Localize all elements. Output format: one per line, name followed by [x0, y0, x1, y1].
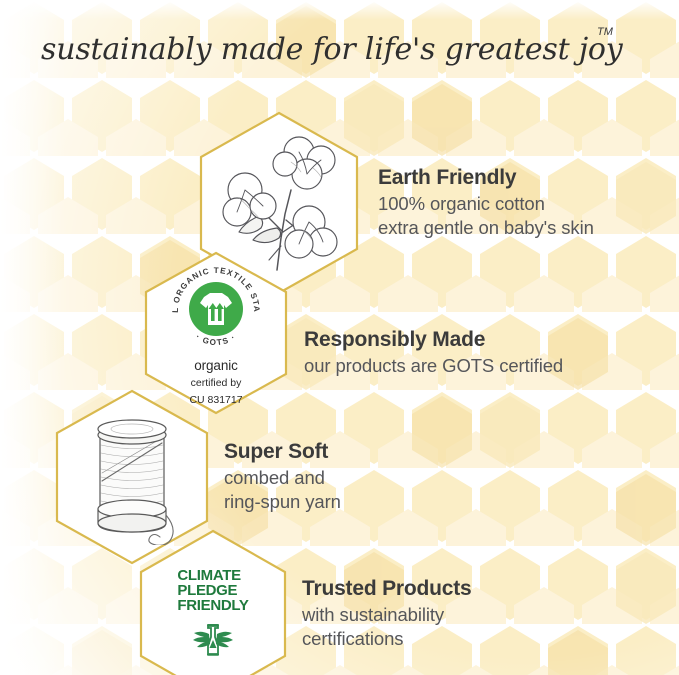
feature-line: certifications — [302, 627, 472, 651]
climate-pledge-friendly-icon: CLIMATE PLEDGE FRIENDLY — [177, 568, 248, 660]
cpf-line-pledge: PLEDGE — [177, 583, 248, 598]
cpf-wordmark: CLIMATE PLEDGE FRIENDLY — [177, 568, 248, 613]
feature-trusted-products-text: Trusted Products with sustainability cer… — [302, 576, 472, 652]
headline-text: sustainably made for life's greatest joy — [41, 32, 624, 67]
feature-title: Earth Friendly — [378, 165, 594, 192]
feature-title: Super Soft — [224, 439, 341, 466]
gots-caption-organic: organic — [194, 358, 238, 373]
hex-badge-climate-pledge: CLIMATE PLEDGE FRIENDLY — [136, 528, 290, 675]
feature-super-soft-text: Super Soft combed and ring-spun yarn — [224, 439, 341, 515]
winged-hourglass-icon — [192, 620, 234, 660]
promo-graphic: sustainably made for life's greatest joy… — [0, 0, 679, 675]
feature-trusted-products: CLIMATE PLEDGE FRIENDLY — [136, 528, 472, 675]
feature-line: 100% organic cotton — [378, 192, 594, 216]
feature-responsibly-made-text: Responsibly Made our products are GOTS c… — [304, 327, 563, 378]
feature-title: Responsibly Made — [304, 327, 563, 354]
cpf-line-climate: CLIMATE — [177, 568, 248, 583]
feature-line: ring-spun yarn — [224, 490, 341, 514]
feature-line: combed and — [224, 466, 341, 490]
feature-line: our products are GOTS certified — [304, 354, 563, 378]
trademark-symbol: TM — [597, 26, 614, 38]
feature-line: with sustainability — [302, 603, 472, 627]
cpf-line-friendly: FRIENDLY — [177, 598, 248, 613]
feature-title: Trusted Products — [302, 576, 472, 603]
feature-earth-friendly-text: Earth Friendly 100% organic cotton extra… — [378, 165, 594, 241]
headline: sustainably made for life's greatest joy… — [0, 18, 679, 80]
thread-spool-sketch-icon — [72, 409, 192, 545]
feature-line: extra gentle on baby's skin — [378, 216, 594, 240]
gots-organic-certification-icon: GLOBAL ORGANIC TEXTILE STANDARD · GOTS ·… — [164, 259, 268, 408]
